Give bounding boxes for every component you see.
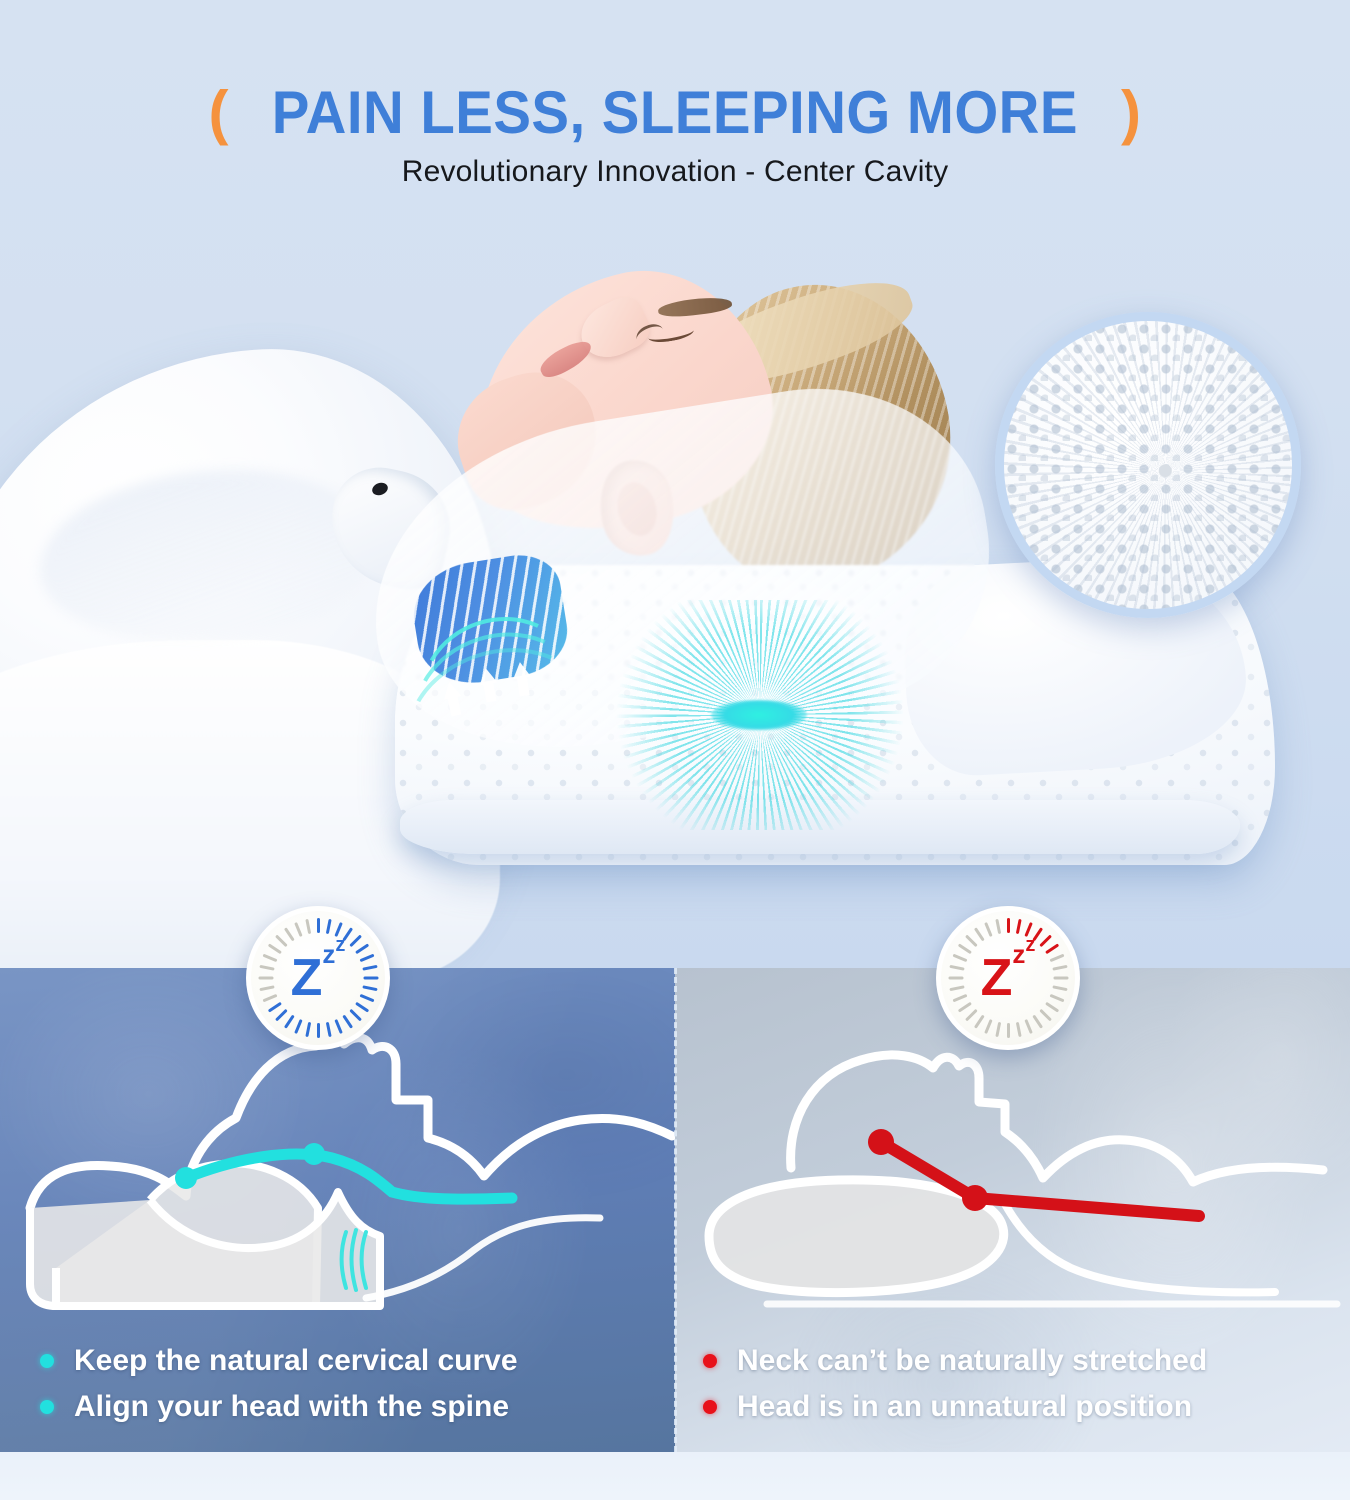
product-infographic: ( PAIN LESS, SLEEPING MORE ) Revolutiona… [0,0,1350,1500]
center-cavity-core [711,700,807,730]
center-cavity-foam-closeup [995,312,1301,618]
bullet-text: Head is in an unnatural position [737,1390,1192,1424]
footer-strip [0,1452,1350,1500]
sleep-clock-good-badge: Z z z [246,906,390,1050]
zzz-blue: Z z z [251,911,385,1045]
z-medium: z [1012,941,1025,967]
bullet-text: Neck can’t be naturally stretched [737,1344,1207,1378]
list-item: Keep the natural cervical curve [40,1344,518,1378]
list-item: Head is in an unnatural position [703,1390,1207,1424]
list-item: Neck can’t be naturally stretched [703,1344,1207,1378]
incorrect-bullet-list: Neck can’t be naturally stretched Head i… [703,1344,1207,1436]
hero-section: ( PAIN LESS, SLEEPING MORE ) Revolutiona… [0,0,1350,968]
z-medium: z [322,941,335,967]
sleep-clock-bad-badge: Z z z [936,906,1080,1050]
panel-divider [674,968,677,1452]
comparison-section: Keep the natural cervical curve Align yo… [0,968,1350,1500]
list-item: Align your head with the spine [40,1390,518,1424]
bullet-dot-icon [40,1354,54,1368]
headline-text: PAIN LESS, SLEEPING MORE [272,78,1078,147]
zzz-red: Z z z [941,911,1075,1045]
page-title: ( PAIN LESS, SLEEPING MORE ) [0,78,1350,147]
support-arrow-2 [477,667,498,686]
bullet-dot-icon [40,1400,54,1414]
support-arrow-3 [511,661,531,679]
page-subtitle: Revolutionary Innovation - Center Cavity [0,155,1350,189]
bullet-dot-icon [703,1400,717,1414]
correct-bullet-list: Keep the natural cervical curve Align yo… [40,1344,518,1436]
z-large: Z [291,952,323,1004]
paren-close-icon: ) [1121,79,1141,146]
bullet-text: Align your head with the spine [74,1390,509,1424]
z-small: z [335,935,345,955]
z-large: Z [981,952,1013,1004]
z-small: z [1025,935,1035,955]
paren-open-icon: ( [209,79,229,146]
bullet-dot-icon [703,1354,717,1368]
bullet-text: Keep the natural cervical curve [74,1344,518,1378]
